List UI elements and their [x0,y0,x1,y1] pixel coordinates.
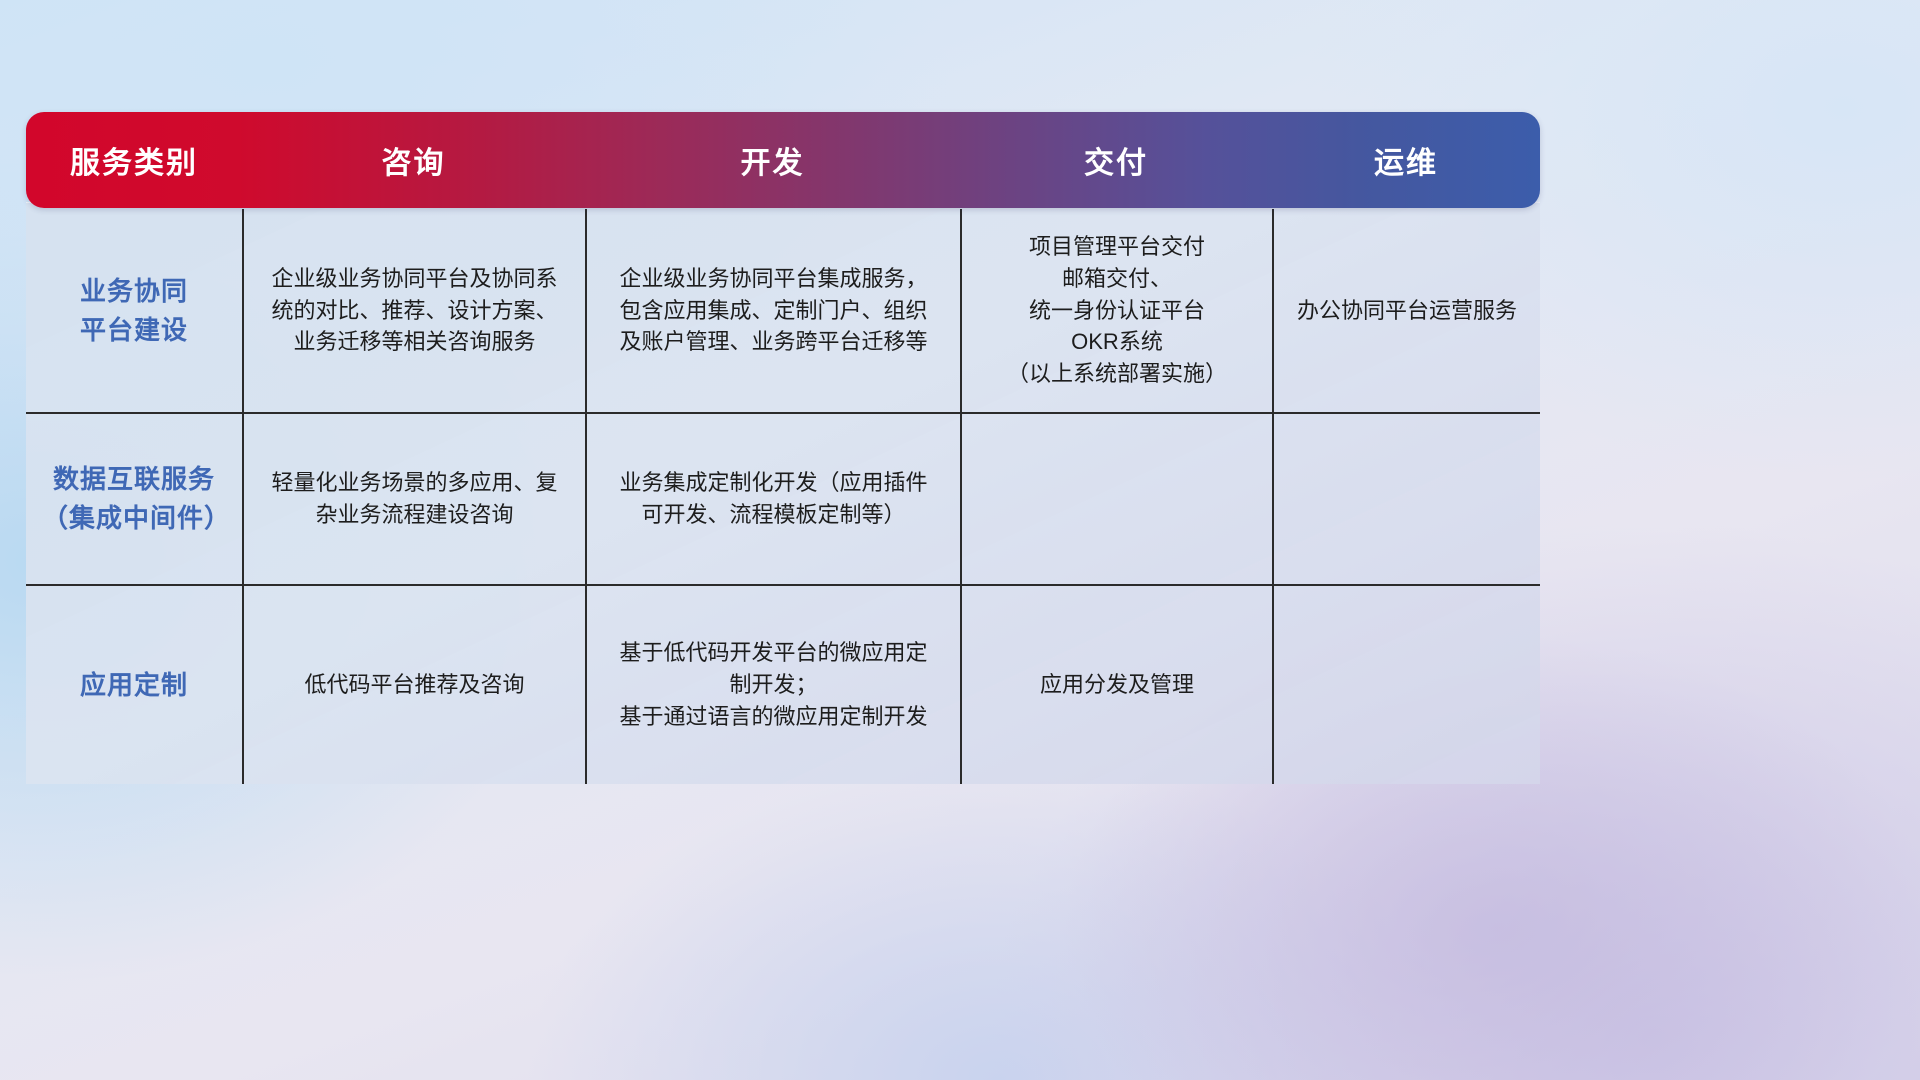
cell-consulting: 轻量化业务场景的多应用、复 杂业务流程建设咨询 [242,414,585,584]
cell-operations [1272,414,1540,584]
header-cell-development: 开发 [585,138,960,182]
cell-delivery: 应用分发及管理 [960,586,1272,784]
cell-consulting: 企业级业务协同平台及协同系 统的对比、推荐、设计方案、 业务迁移等相关咨询服务 [242,209,585,412]
row-category-label: 数据互联服务 （集成中间件） [26,414,242,584]
row-category-label: 应用定制 [26,586,242,784]
cell-operations: 办公协同平台运营服务 [1272,209,1540,412]
cell-consulting: 低代码平台推荐及咨询 [242,586,585,784]
header-cell-consulting: 咨询 [242,138,585,182]
header-cell-operations: 运维 [1272,138,1540,182]
cell-delivery [960,414,1272,584]
cell-development: 企业级业务协同平台集成服务， 包含应用集成、定制门户、组织 及账户管理、业务跨平… [585,209,960,412]
header-cell-service-category: 服务类别 [26,138,242,182]
header-cell-delivery: 交付 [960,138,1272,182]
service-matrix-table: 服务类别 咨询 开发 交付 运维 业务协同 平台建设 企业级业务协同平台及协同系… [26,112,1540,784]
row-category-label: 业务协同 平台建设 [26,209,242,412]
table-row: 应用定制 低代码平台推荐及咨询 基于低代码开发平台的微应用定 制开发； 基于通过… [26,584,1540,784]
cell-delivery: 项目管理平台交付 邮箱交付、 统一身份认证平台 OKR系统 （以上系统部署实施） [960,209,1272,412]
table-row: 数据互联服务 （集成中间件） 轻量化业务场景的多应用、复 杂业务流程建设咨询 业… [26,412,1540,584]
table-header-row: 服务类别 咨询 开发 交付 运维 [26,112,1540,208]
cell-development: 基于低代码开发平台的微应用定 制开发； 基于通过语言的微应用定制开发 [585,586,960,784]
table-body: 业务协同 平台建设 企业级业务协同平台及协同系 统的对比、推荐、设计方案、 业务… [26,202,1540,784]
table-row: 业务协同 平台建设 企业级业务协同平台及协同系 统的对比、推荐、设计方案、 业务… [26,209,1540,412]
cell-operations [1272,586,1540,784]
cell-development: 业务集成定制化开发（应用插件 可开发、流程模板定制等） [585,414,960,584]
